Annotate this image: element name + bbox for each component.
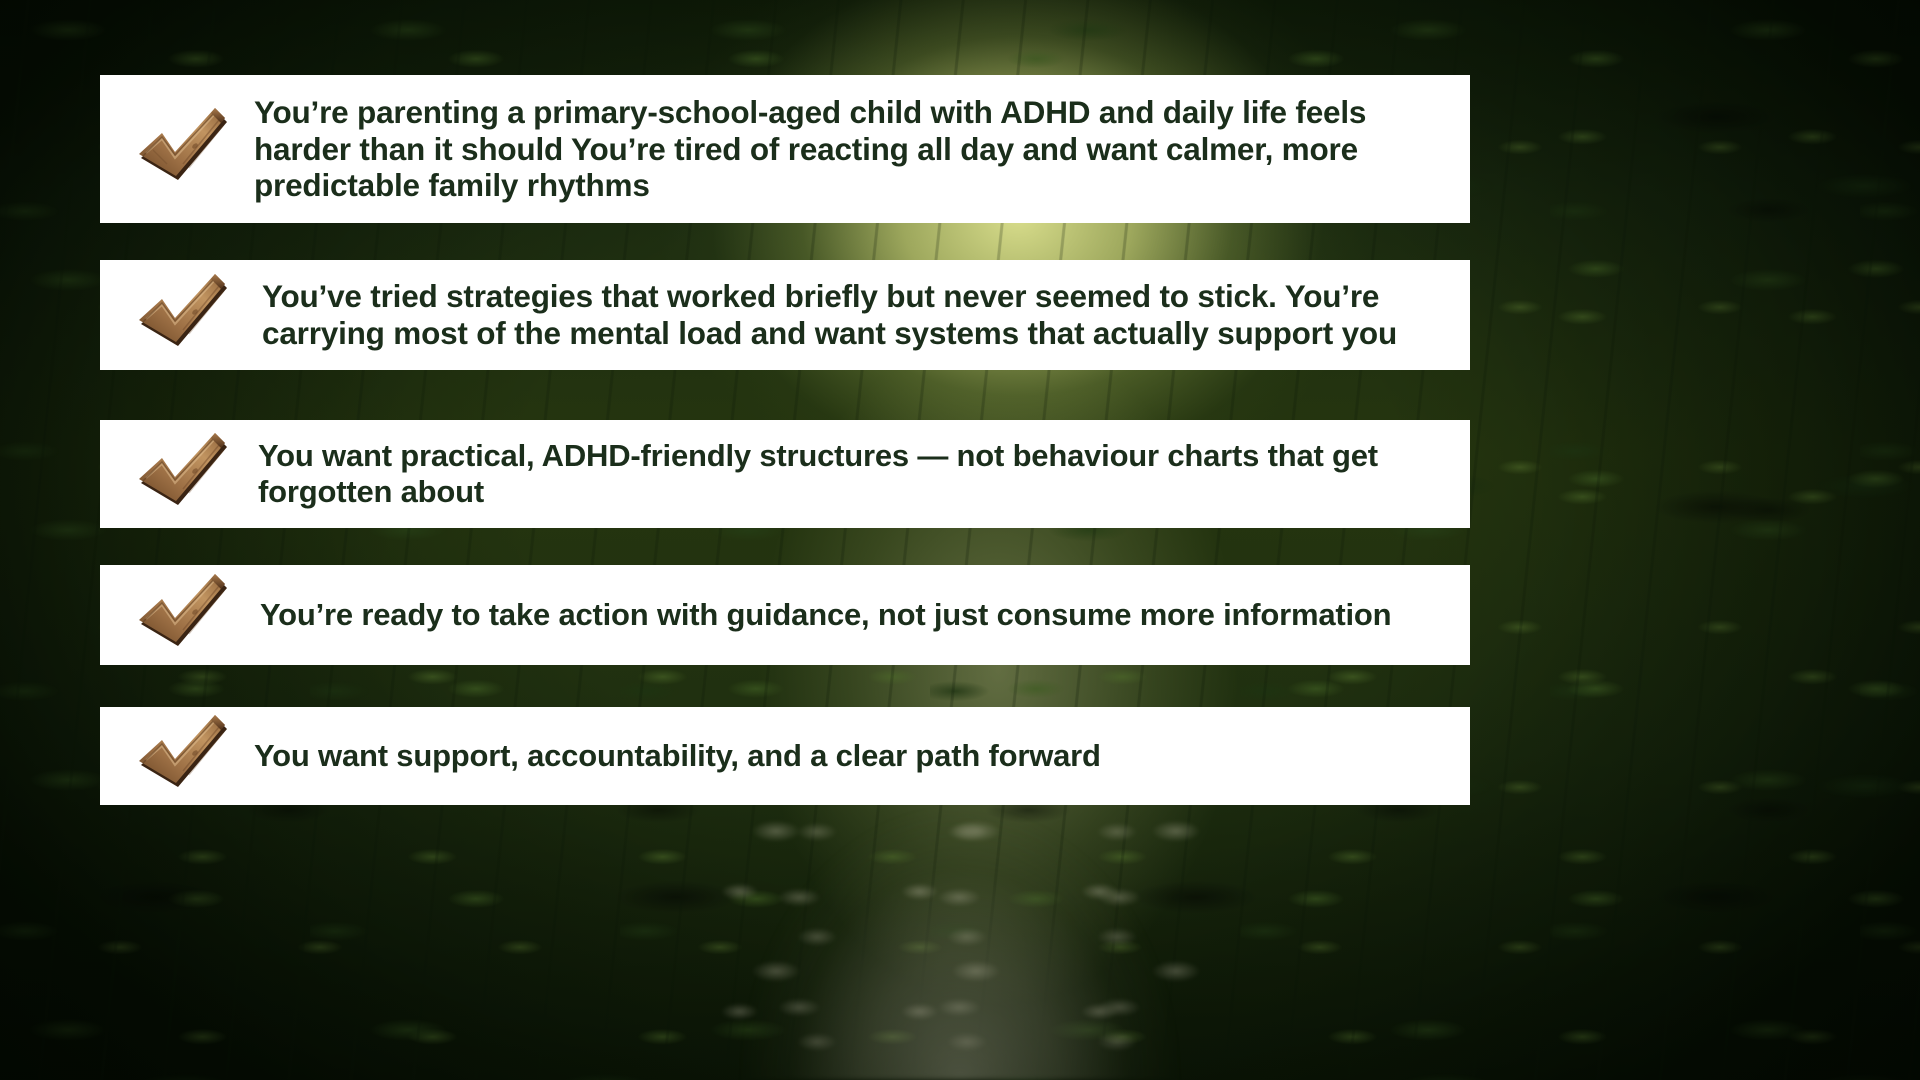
checklist-item-3[interactable]: You want practical, ADHD-friendly struct… (100, 420, 1470, 528)
checklist-item-2-text: You’ve tried strategies that worked brie… (262, 278, 1470, 351)
checklist-item-5[interactable]: You want support, accountability, and a … (100, 707, 1470, 805)
checklist-item-4[interactable]: You’re ready to take action with guidanc… (100, 565, 1470, 665)
checklist-item-5-text: You want support, accountability, and a … (254, 738, 1127, 774)
wooden-checkmark-icon (122, 707, 240, 805)
slide-canvas: You’re parenting a primary-school-aged c… (0, 0, 1920, 1080)
checklist-item-2[interactable]: You’ve tried strategies that worked brie… (100, 260, 1470, 370)
wooden-checkmark-icon (122, 260, 240, 370)
wooden-checkmark-icon (122, 75, 240, 223)
checklist-item-4-text: You’re ready to take action with guidanc… (260, 597, 1417, 633)
checklist-item-3-text: You want practical, ADHD-friendly struct… (258, 438, 1470, 510)
checklist: You’re parenting a primary-school-aged c… (0, 0, 1920, 1080)
wooden-checkmark-icon (122, 565, 240, 665)
wooden-checkmark-icon (122, 420, 240, 528)
checklist-item-1[interactable]: You’re parenting a primary-school-aged c… (100, 75, 1470, 223)
checklist-item-1-text: You’re parenting a primary-school-aged c… (254, 94, 1470, 204)
